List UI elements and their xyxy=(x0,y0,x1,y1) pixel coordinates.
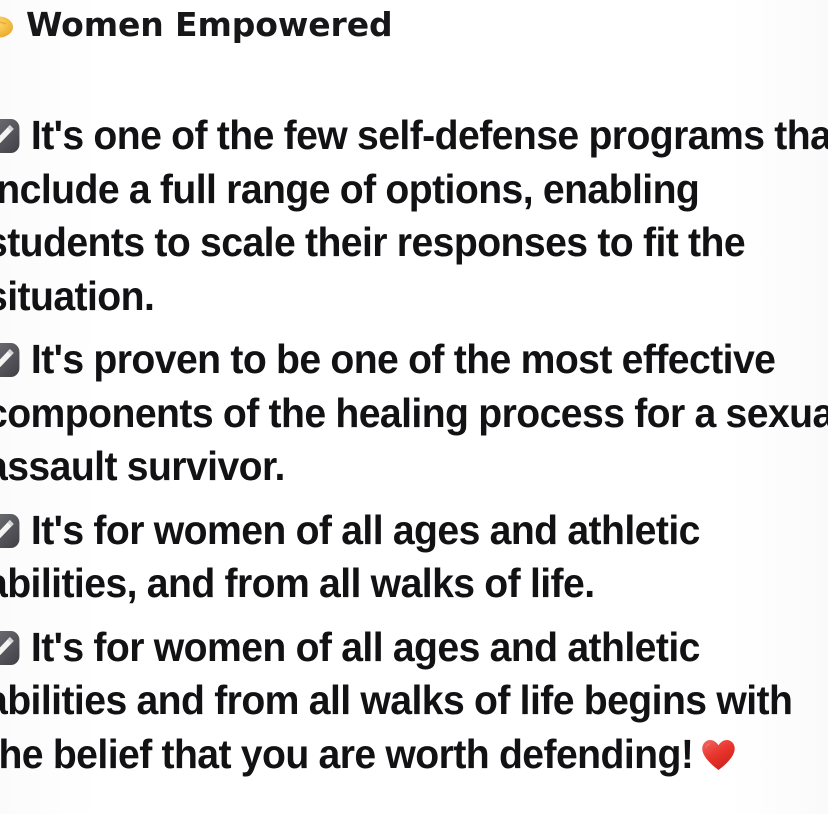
fist-emoji xyxy=(0,11,16,41)
post-viewport: Women Empowered xyxy=(0,0,828,814)
bullet-text: It's for women of all ages and athletic … xyxy=(0,624,792,777)
post-content: Women Empowered xyxy=(0,0,828,781)
list-item: It's for women of all ages and athletic … xyxy=(0,621,828,782)
bullet-paragraph: It's one of the few self-defense program… xyxy=(0,109,828,323)
list-item: It's proven to be one of the most effect… xyxy=(0,333,828,494)
bullet-text: It's for women of all ages and athletic … xyxy=(0,507,700,607)
list-item: It's one of the few self-defense program… xyxy=(0,109,828,323)
pencil-emoji xyxy=(0,117,22,155)
bullet-list: It's one of the few self-defense program… xyxy=(0,109,828,781)
bullet-paragraph: It's for women of all ages and athletic … xyxy=(0,504,828,611)
screenshot-root: Women Empowered xyxy=(0,0,828,814)
pencil-emoji xyxy=(0,341,22,379)
pencil-emoji xyxy=(0,629,22,667)
list-item: It's for women of all ages and athletic … xyxy=(0,504,828,611)
post-title-row: Women Empowered xyxy=(0,0,828,47)
bullet-text: It's proven to be one of the most effect… xyxy=(0,336,828,489)
bullet-text: It's one of the few self-defense program… xyxy=(0,112,828,319)
bullet-paragraph: It's proven to be one of the most effect… xyxy=(0,333,828,494)
red-heart-emoji xyxy=(699,735,737,775)
pencil-emoji xyxy=(0,512,22,550)
bullet-paragraph: It's for women of all ages and athletic … xyxy=(0,621,828,782)
page-title: Women Empowered xyxy=(26,8,393,41)
